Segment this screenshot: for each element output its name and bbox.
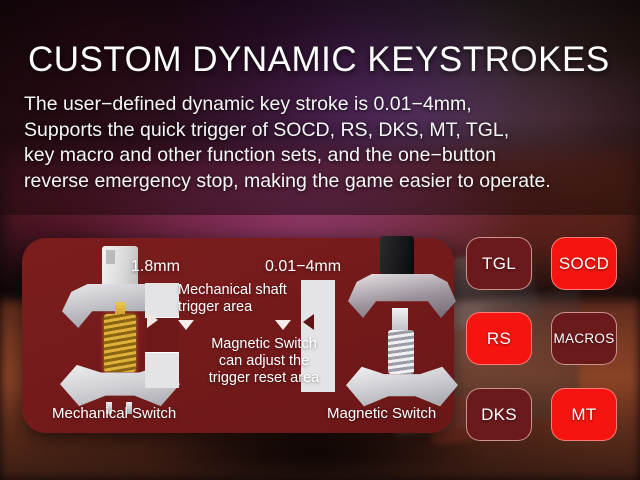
- feature-key-grid: TGLSOCDRSMACROSDKSMT: [466, 237, 632, 441]
- mechanical-trigger-arrow-icon: [147, 312, 158, 328]
- description-line-1: The user−defined dynamic key stroke is 0…: [24, 92, 640, 118]
- mechanical-travel-label: 1.8mm: [131, 258, 180, 276]
- magnetic-spring-part: [388, 330, 414, 374]
- mechanical-trigger-caption: Mechanical shaft trigger area: [178, 282, 348, 316]
- feature-key-label: MACROS: [553, 331, 614, 346]
- feature-key-mt[interactable]: MT: [551, 388, 617, 441]
- feature-key-label: RS: [487, 329, 511, 349]
- page-title: CUSTOM DYNAMIC KEYSTROKES: [28, 40, 610, 80]
- feature-key-socd[interactable]: SOCD: [551, 237, 617, 290]
- magnetic-switch-name: Magnetic Switch: [327, 405, 436, 422]
- feature-key-rs[interactable]: RS: [466, 312, 532, 365]
- switch-comparison-panel: 1.8mm 0.01−4mm Mechanical shaft trigger …: [22, 238, 454, 433]
- magnetic-trigger-caption: Magnetic Switch can adjust the trigger r…: [169, 336, 359, 387]
- feature-key-label: DKS: [481, 405, 517, 425]
- magnetic-switch-image: [342, 242, 462, 412]
- magnetic-caption-pointer-icon: [275, 320, 291, 330]
- feature-key-dks[interactable]: DKS: [466, 388, 532, 441]
- feature-key-label: TGL: [482, 254, 516, 274]
- description-line-4: reverse emergency stop, making the game …: [24, 169, 640, 195]
- mechanical-spring-part: [104, 314, 136, 372]
- description-line-3: key macro and other function sets, and t…: [24, 143, 640, 169]
- mechanical-caption-pointer-icon: [178, 320, 194, 330]
- magnetic-trigger-arrow-icon: [303, 314, 314, 330]
- mechanical-switch-name: Mechanical Switch: [52, 405, 176, 422]
- feature-key-tgl[interactable]: TGL: [466, 237, 532, 290]
- magnetic-stem-part: [380, 236, 414, 276]
- feature-key-label: MT: [571, 405, 596, 425]
- description-paragraph: The user−defined dynamic key stroke is 0…: [24, 92, 640, 194]
- feature-key-label: SOCD: [559, 254, 609, 274]
- description-line-2: Supports the quick trigger of SOCD, RS, …: [24, 118, 640, 144]
- feature-key-macros[interactable]: MACROS: [551, 312, 617, 365]
- magnetic-travel-label: 0.01−4mm: [265, 258, 341, 276]
